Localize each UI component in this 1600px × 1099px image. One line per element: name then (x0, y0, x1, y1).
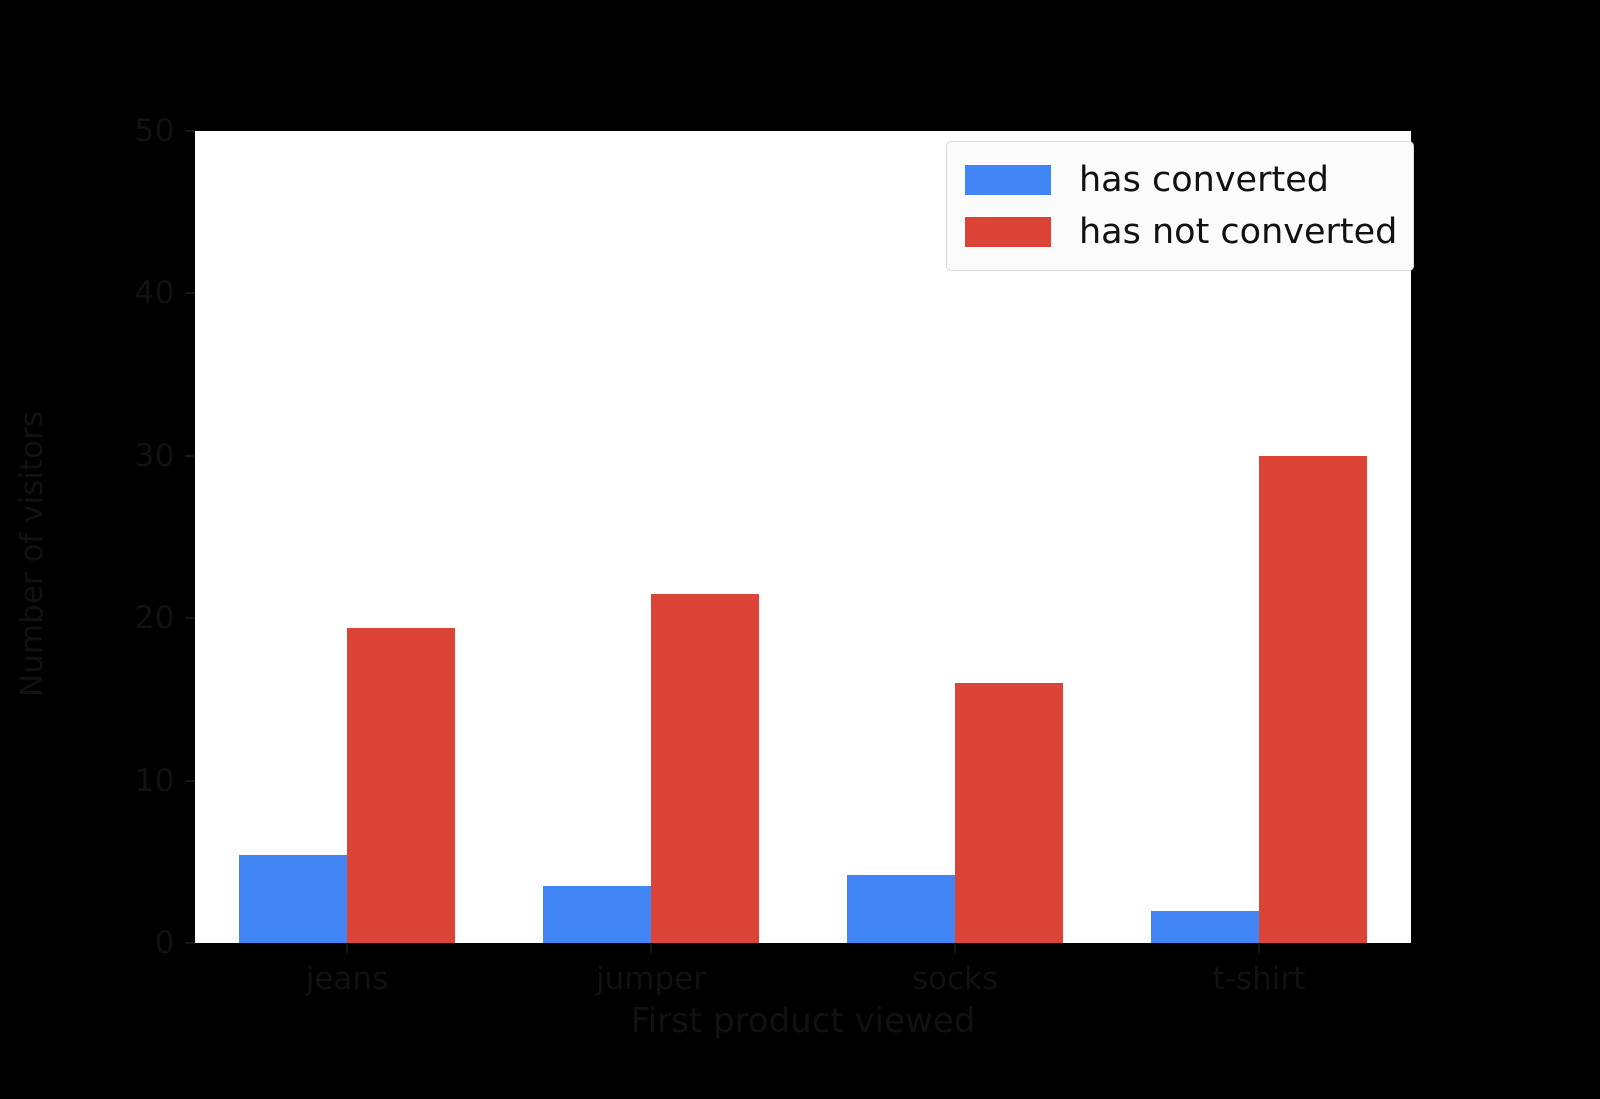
x-tick-label: jumper (511, 961, 791, 997)
bar-jeans-not-converted (347, 628, 455, 943)
y-tick-mark (185, 292, 195, 294)
x-tick-mark (346, 943, 348, 953)
y-tick-label: 40 (135, 272, 175, 314)
bar-jumper-converted (543, 886, 651, 943)
y-tick-mark (185, 130, 195, 132)
x-tick-mark (1258, 943, 1260, 953)
y-axis: Number of visitors 01020304050 (0, 0, 195, 1099)
y-tick-label: 0 (155, 922, 175, 964)
x-tick-mark (954, 943, 956, 953)
y-tick-label: 30 (135, 435, 175, 477)
bar-socks-converted (847, 875, 955, 943)
y-tick-label: 10 (135, 760, 175, 802)
x-tick-label: t-shirt (1119, 961, 1399, 997)
bar-jumper-not-converted (651, 594, 759, 943)
y-tick-mark (185, 780, 195, 782)
y-tick-mark (185, 617, 195, 619)
legend-label: has converted (1079, 158, 1329, 202)
y-tick-label: 20 (135, 597, 175, 639)
blue-swatch (965, 165, 1051, 195)
y-tick-label: 50 (135, 110, 175, 152)
y-tick-mark (185, 455, 195, 457)
legend: has convertedhas not converted (946, 141, 1414, 271)
legend-item-has-not-converted: has not converted (965, 206, 1397, 258)
x-tick-label: jeans (207, 961, 487, 997)
x-tick-mark (650, 943, 652, 953)
legend-item-has-converted: has converted (965, 154, 1397, 206)
y-axis-label: Number of visitors (14, 294, 50, 814)
bar-jeans-converted (239, 855, 347, 943)
bar-t-shirt-converted (1151, 911, 1259, 943)
bar-t-shirt-not-converted (1259, 456, 1367, 943)
x-axis-label: First product viewed (195, 1001, 1411, 1041)
y-tick-mark (185, 942, 195, 944)
bar-socks-not-converted (955, 683, 1063, 943)
bar-chart-figure: Number of visitors 01020304050 First pro… (0, 0, 1600, 1099)
x-tick-label: socks (815, 961, 1095, 997)
legend-label: has not converted (1079, 210, 1397, 254)
x-axis: First product viewed jeansjumpersockst-s… (195, 943, 1411, 1099)
red-swatch (965, 217, 1051, 247)
